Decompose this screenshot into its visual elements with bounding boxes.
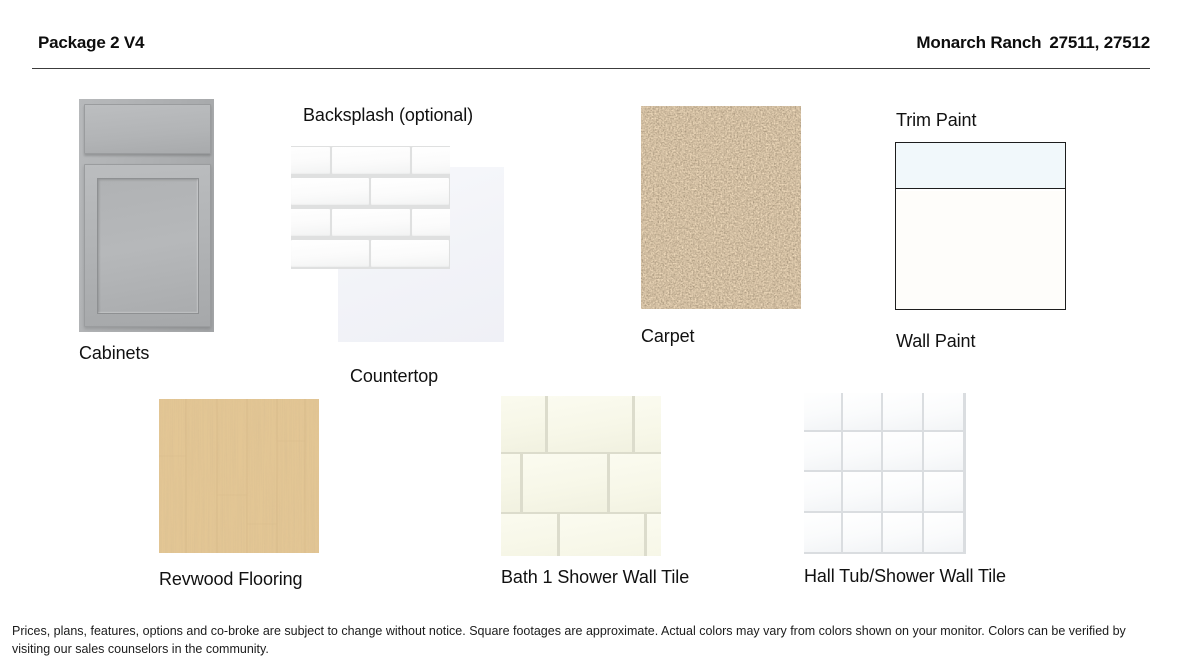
trim-paint-label: Trim Paint	[896, 110, 976, 131]
lot-numbers: 27511, 27512	[1049, 33, 1150, 52]
carpet-swatch	[641, 106, 801, 309]
backsplash-tile	[291, 209, 330, 236]
hall-wall-tile	[924, 513, 963, 552]
bath1-wall-tile	[560, 514, 644, 556]
countertop-label: Countertop	[350, 366, 438, 387]
hall-wall-tile	[924, 432, 963, 471]
hall-wall-tile	[843, 513, 882, 552]
cabinet-swatch	[79, 99, 214, 332]
hall-wall-tile	[804, 513, 841, 552]
wood-grain-texture	[159, 399, 319, 553]
backsplash-tile-row	[291, 208, 450, 238]
paint-swatch	[895, 142, 1066, 310]
hall-wall-tile	[843, 432, 882, 471]
backsplash-tile	[412, 147, 450, 174]
backsplash-label: Backsplash (optional)	[303, 105, 473, 126]
backsplash-tile-row	[291, 239, 450, 269]
backsplash-tile	[291, 147, 330, 174]
bath1-wall-tile	[610, 454, 661, 512]
hall-tub-shower-wall-tile-label: Hall Tub/Shower Wall Tile	[804, 566, 1006, 587]
cabinets-label: Cabinets	[79, 343, 149, 364]
backsplash-tile	[332, 209, 410, 236]
hall-tub-shower-wall-tile-swatch	[804, 393, 966, 554]
trim-paint-chip	[896, 143, 1065, 189]
bath1-wall-tile	[548, 396, 632, 452]
carpet-texture	[641, 106, 801, 309]
bath1-wall-tile	[501, 396, 545, 452]
backsplash-tile-row	[291, 177, 450, 207]
revwood-flooring-swatch	[159, 399, 319, 553]
backsplash-tile	[371, 240, 449, 267]
wall-paint-label: Wall Paint	[896, 331, 975, 352]
community-name: Monarch Ranch	[916, 33, 1041, 52]
hall-wall-tile	[883, 472, 922, 511]
community-heading: Monarch Ranch27511, 27512	[916, 33, 1150, 53]
page-title: Package 2 V4	[38, 33, 144, 53]
cabinet-door-front	[84, 164, 211, 327]
header-divider	[32, 68, 1150, 69]
backsplash-tile	[291, 240, 369, 267]
bath1-shower-wall-tile-swatch	[501, 396, 661, 556]
bath1-wall-tile	[501, 454, 520, 512]
wall-paint-chip	[896, 191, 1065, 310]
bath1-wall-tile	[635, 396, 661, 452]
carpet-label: Carpet	[641, 326, 694, 347]
hall-wall-tile	[843, 472, 882, 511]
backsplash-tile-row	[291, 146, 450, 176]
hall-wall-tile	[924, 472, 963, 511]
hall-wall-tile	[804, 472, 841, 511]
finish-package-board: Package 2 V4 Monarch Ranch27511, 27512 C…	[0, 0, 1182, 665]
backsplash-tile	[371, 178, 449, 205]
cabinet-shaker-panel	[97, 178, 199, 314]
revwood-flooring-label: Revwood Flooring	[159, 569, 302, 590]
bath1-wall-tile	[647, 514, 661, 556]
backsplash-tile	[332, 147, 410, 174]
disclaimer-text: Prices, plans, features, options and co-…	[12, 622, 1152, 658]
hall-wall-tile	[883, 513, 922, 552]
bath1-wall-tile	[501, 514, 557, 556]
backsplash-tile	[291, 178, 369, 205]
hall-wall-tile	[924, 393, 963, 430]
backsplash-tile	[412, 209, 450, 236]
cabinet-drawer-front	[84, 104, 211, 154]
hall-wall-tile	[883, 432, 922, 471]
hall-wall-tile	[843, 393, 882, 430]
hall-wall-tile	[804, 393, 841, 430]
hall-wall-tile	[883, 393, 922, 430]
hall-wall-tile	[804, 432, 841, 471]
bath1-shower-wall-tile-label: Bath 1 Shower Wall Tile	[501, 567, 689, 588]
bath1-wall-tile	[523, 454, 607, 512]
backsplash-swatch	[291, 146, 450, 269]
